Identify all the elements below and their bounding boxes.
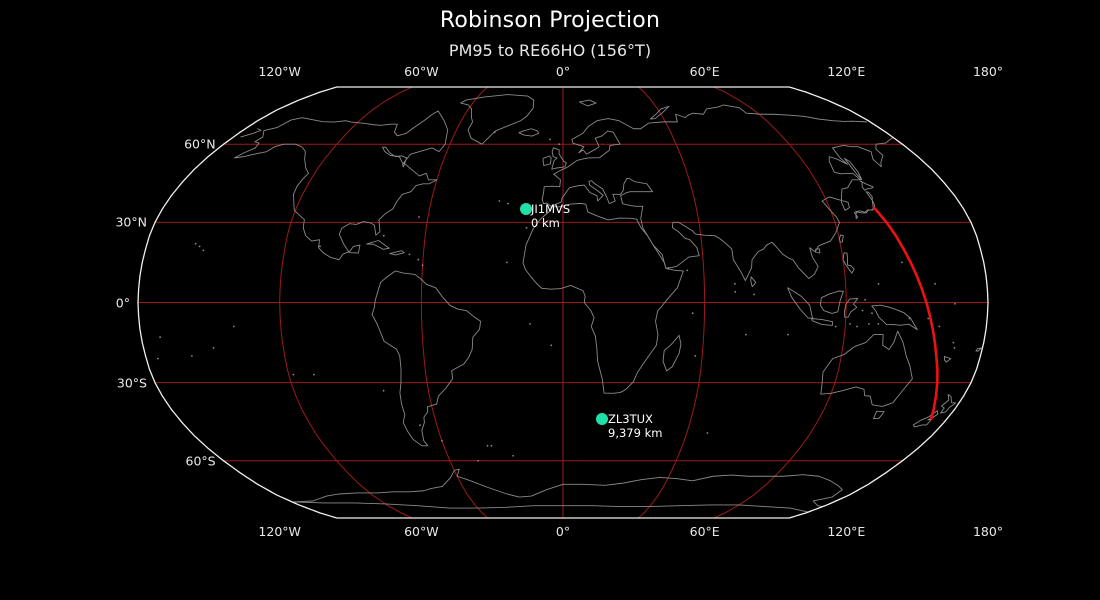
island-dot (213, 347, 215, 349)
coastline-segment (372, 271, 481, 446)
station-callsign: JI1MVS (531, 202, 570, 216)
coastline-segment (461, 95, 534, 145)
coastline-segment (663, 335, 681, 371)
coastline-segment (854, 192, 874, 219)
island-dot (506, 262, 508, 264)
coastline-segment (812, 319, 833, 326)
coastline-segment (816, 249, 820, 253)
island-dot (157, 358, 159, 360)
coastline-segment (821, 331, 913, 406)
station-marker-zl3tux[interactable] (596, 413, 608, 425)
island-dot (529, 323, 531, 325)
island-dot (877, 323, 879, 325)
coastline-segment (579, 100, 596, 106)
island-dot (871, 312, 873, 314)
island-dot (692, 312, 694, 314)
station-label-ji1mvs: JI1MVS0 km (531, 203, 570, 230)
island-dot (745, 334, 747, 336)
coastline-paths (157, 95, 981, 513)
coastline-segment (519, 129, 539, 136)
lat-tick-4: 60°S (168, 453, 216, 468)
island-dot (686, 270, 688, 272)
island-dot (498, 200, 500, 202)
coastline-segment (390, 251, 404, 255)
coastline-segment (976, 348, 981, 351)
island-dot (856, 326, 858, 328)
lon-tick-bottom-0: 0° (556, 524, 570, 539)
coastline-segment (751, 277, 756, 287)
lat-tick-1: 30°N (99, 215, 147, 230)
island-dot (191, 355, 193, 357)
island-dot (202, 250, 204, 252)
coastline-segment (367, 241, 389, 250)
station-distance: 9,379 km (608, 427, 662, 441)
coastline-segment (542, 138, 892, 280)
lat-tick-2: 0° (82, 295, 130, 310)
coastline-segment (845, 158, 862, 179)
island-dot (512, 455, 514, 457)
island-dot (383, 390, 385, 392)
island-dot (491, 445, 493, 447)
lat-tick-0: 60°N (168, 137, 216, 152)
island-dot (953, 342, 955, 344)
coastline-segment (913, 411, 938, 427)
station-distance: 0 km (531, 217, 570, 231)
island-dot (934, 283, 936, 285)
island-dot (927, 318, 929, 320)
coastline-segment (860, 181, 873, 190)
map-canvas (0, 0, 1100, 600)
coastline-segment (234, 111, 447, 260)
island-dot (668, 267, 670, 269)
island-dot (734, 283, 736, 285)
island-dot (418, 216, 420, 218)
island-dot (835, 326, 837, 328)
island-dot (558, 143, 560, 145)
island-dot (199, 246, 201, 248)
island-dot (159, 336, 161, 338)
island-dot (383, 235, 385, 237)
island-dot (868, 323, 870, 325)
island-dot (494, 131, 496, 133)
island-dot (901, 262, 903, 264)
station-callsign: ZL3TUX (608, 412, 653, 426)
coastline-segment (552, 148, 567, 169)
lon-tick-bottom-3: 180° (973, 524, 1003, 539)
lon-tick-bottom-4: 120°W (258, 524, 300, 539)
island-dot (417, 259, 419, 261)
island-dot (507, 203, 509, 205)
island-dot (909, 318, 911, 320)
lon-tick-top-5: 60°W (404, 64, 439, 79)
island-dot (864, 299, 866, 301)
island-dot (313, 374, 315, 376)
coastline-segment (788, 288, 813, 318)
coastline-segment (839, 235, 843, 242)
lon-tick-bottom-2: 120°E (827, 524, 865, 539)
island-dot (293, 374, 295, 376)
island-dot (419, 424, 421, 426)
island-dot (441, 440, 443, 442)
coastline-segment (944, 356, 950, 362)
map-coastlines-group (157, 95, 981, 513)
island-dot (409, 254, 411, 256)
coastline-segment (874, 411, 885, 418)
lon-tick-bottom-1: 60°E (690, 524, 720, 539)
island-dot (938, 326, 940, 328)
island-dot (707, 432, 709, 434)
lon-tick-top-1: 60°E (690, 64, 720, 79)
map-figure: Robinson Projection PM95 to RE66HO (156°… (0, 0, 1100, 600)
island-dot (477, 460, 479, 462)
island-dot (233, 326, 235, 328)
station-markers (520, 203, 608, 425)
island-dot (549, 139, 551, 141)
island-dot (195, 243, 197, 245)
island-dot (694, 355, 696, 357)
island-dot (878, 283, 880, 285)
station-label-zl3tux: ZL3TUX9,379 km (608, 413, 662, 440)
island-dot (422, 264, 424, 266)
island-dot (734, 291, 736, 293)
lon-tick-top-0: 0° (556, 64, 570, 79)
lon-tick-top-2: 120°E (827, 64, 865, 79)
coastline-segment (292, 469, 842, 512)
island-dot (319, 246, 321, 248)
lon-tick-top-4: 120°W (258, 64, 300, 79)
coastline-segment (523, 203, 683, 393)
island-dot (954, 303, 956, 305)
lat-tick-3: 30°S (99, 375, 147, 390)
island-dot (753, 294, 755, 296)
coastline-segment (543, 156, 551, 166)
lon-tick-top-3: 180° (973, 64, 1003, 79)
island-dot (849, 323, 851, 325)
island-dot (487, 445, 489, 447)
island-dot (526, 227, 528, 229)
lon-tick-bottom-5: 60°W (404, 524, 439, 539)
island-dot (787, 334, 789, 336)
island-dot (550, 344, 552, 346)
coastline-segment (872, 305, 918, 330)
island-dot (812, 318, 814, 320)
island-dot (954, 347, 956, 349)
island-dot (862, 310, 864, 312)
